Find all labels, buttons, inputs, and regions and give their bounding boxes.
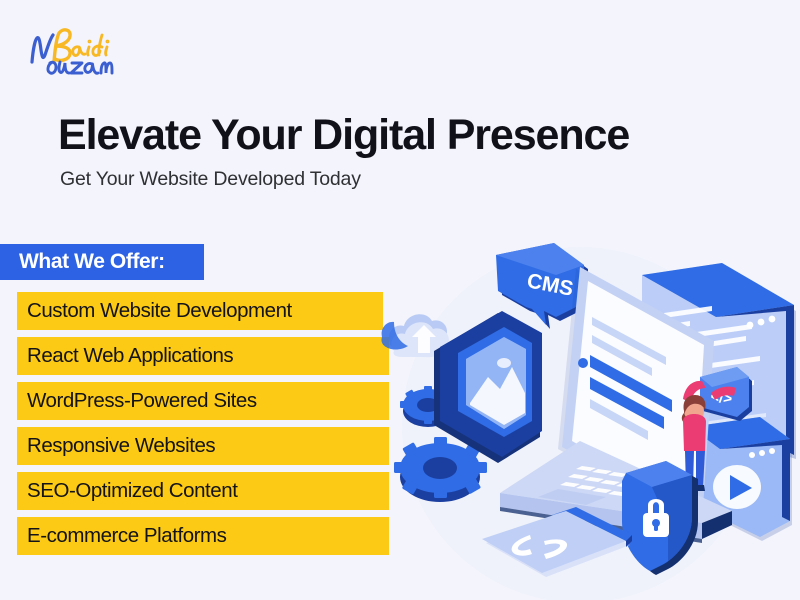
page-subtitle: Get Your Website Developed Today	[60, 168, 361, 191]
list-item[interactable]: Custom Website Development	[17, 292, 383, 330]
list-item[interactable]: React Web Applications	[17, 337, 389, 375]
window-dot	[769, 316, 776, 323]
what-we-offer-banner: What We Offer:	[0, 244, 204, 280]
poster-canvas: Elevate Your Digital Presence Get Your W…	[0, 0, 800, 600]
offer-list: Custom Website Development React Web App…	[17, 292, 389, 562]
list-item[interactable]: WordPress-Powered Sites	[17, 382, 389, 420]
list-item[interactable]: E-commerce Platforms	[17, 517, 389, 555]
list-item-label: WordPress-Powered Sites	[17, 389, 257, 413]
list-item-label: Custom Website Development	[17, 299, 292, 323]
what-we-offer-label: What We Offer:	[0, 250, 165, 274]
hero-illustration: CMS	[380, 225, 800, 600]
list-item-label: Responsive Websites	[17, 434, 215, 458]
screen-bullet	[578, 358, 588, 368]
list-item[interactable]: Responsive Websites	[17, 427, 389, 465]
play-button-icon	[713, 465, 761, 509]
window-dot	[758, 319, 765, 326]
window-dot	[759, 450, 765, 456]
list-item-label: SEO-Optimized Content	[17, 479, 237, 503]
sun-icon	[497, 358, 511, 368]
window-dot	[769, 448, 775, 454]
list-item[interactable]: SEO-Optimized Content	[17, 472, 389, 510]
brand-logo[interactable]	[22, 22, 142, 84]
list-item-label: React Web Applications	[17, 344, 233, 368]
window-dot	[749, 452, 755, 458]
page-title: Elevate Your Digital Presence	[58, 112, 629, 158]
list-item-label: E-commerce Platforms	[17, 524, 226, 548]
